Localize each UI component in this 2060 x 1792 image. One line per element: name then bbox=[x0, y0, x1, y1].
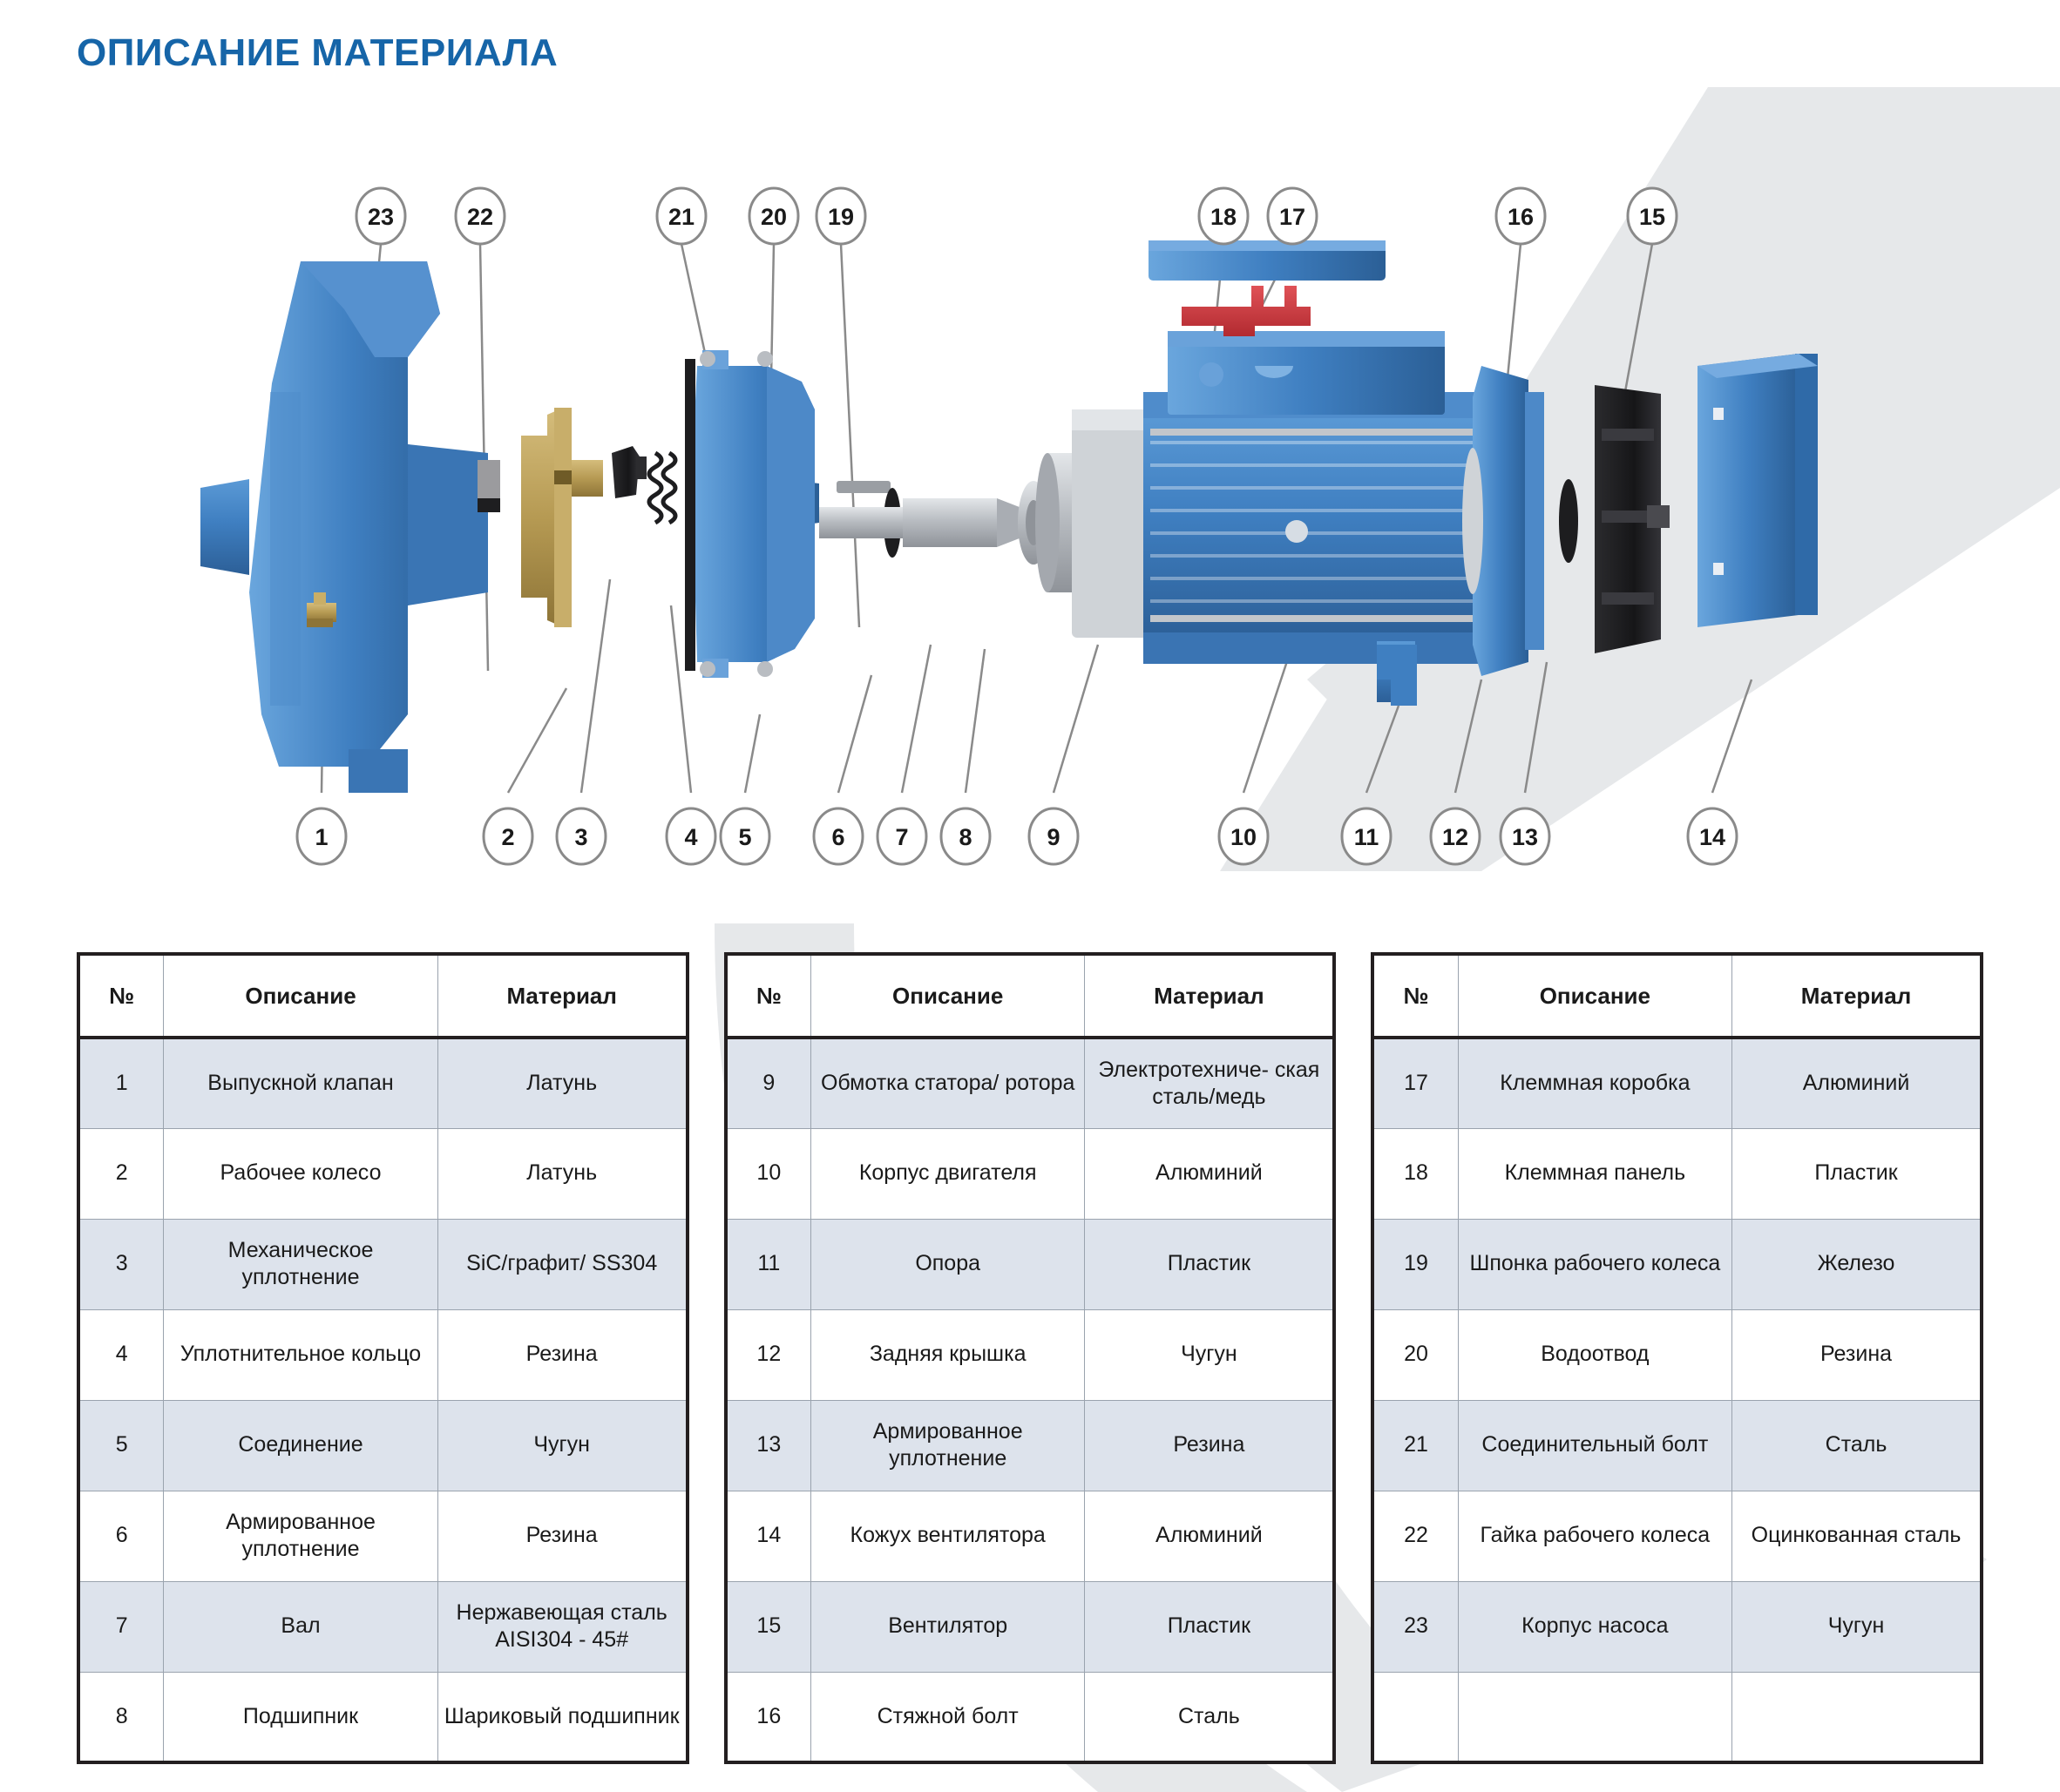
cell-description: Корпус насоса bbox=[1458, 1581, 1731, 1672]
part-terminal-box-lid bbox=[1149, 240, 1386, 281]
material-table-1: № Описание Материал 1Выпускной клапанЛат… bbox=[77, 952, 689, 1764]
callout-21: 21 bbox=[657, 188, 706, 244]
callout-23: 23 bbox=[356, 188, 405, 244]
cell-material: Чугун bbox=[1085, 1309, 1334, 1400]
table-row: 21Соединительный болтСталь bbox=[1372, 1400, 1982, 1491]
material-table-2: № Описание Материал 9Обмотка статора/ ро… bbox=[724, 952, 1337, 1764]
table-row: 23Корпус насосаЧугун bbox=[1372, 1581, 1982, 1672]
table-row: 3Механическое уплотнениеSiC/графит/ SS30… bbox=[78, 1219, 688, 1309]
cell-material: Электротехниче- ская сталь/медь bbox=[1085, 1038, 1334, 1128]
table-row: 9Обмотка статора/ ротораЭлектротехниче- … bbox=[726, 1038, 1335, 1128]
part-connection-bracket bbox=[685, 350, 819, 678]
cell-material: Резина bbox=[437, 1309, 687, 1400]
callout-20: 20 bbox=[749, 188, 798, 244]
table-header-row: № Описание Материал bbox=[78, 954, 688, 1038]
part-impeller bbox=[521, 408, 603, 627]
cell-number: 5 bbox=[78, 1400, 164, 1491]
table-row: 19Шпонка рабочего колесаЖелезо bbox=[1372, 1219, 1982, 1309]
cell-number: 16 bbox=[726, 1672, 811, 1762]
cell-description: Гайка рабочего колеса bbox=[1458, 1491, 1731, 1581]
callout-10: 10 bbox=[1219, 808, 1268, 864]
cell-description: Уплотнительное кольцо bbox=[164, 1309, 437, 1400]
svg-text:5: 5 bbox=[738, 824, 751, 850]
part-shaft bbox=[819, 498, 1028, 547]
svg-text:15: 15 bbox=[1639, 204, 1665, 230]
callout-11: 11 bbox=[1342, 808, 1391, 864]
cell-material: Нержавеющая сталь AISI304 - 45# bbox=[437, 1581, 687, 1672]
table-header-row: № Описание Материал bbox=[1372, 954, 1982, 1038]
svg-text:11: 11 bbox=[1354, 824, 1379, 850]
cell-number: 17 bbox=[1372, 1038, 1458, 1128]
callout-4: 4 bbox=[667, 808, 715, 864]
cell-material: Латунь bbox=[437, 1128, 687, 1219]
svg-text:19: 19 bbox=[828, 204, 854, 230]
column-header-material: Материал bbox=[437, 954, 687, 1038]
part-mechanical-seal bbox=[612, 446, 647, 498]
cell-description: Шпонка рабочего колеса bbox=[1458, 1219, 1731, 1309]
cell-number: 14 bbox=[726, 1491, 811, 1581]
cell-material: Алюминий bbox=[1732, 1038, 1982, 1128]
cell-description: Задняя крышка bbox=[810, 1309, 1084, 1400]
cell-material: Алюминий bbox=[1085, 1128, 1334, 1219]
material-table-3-wrap: № Описание Материал 17Клеммная коробкаАл… bbox=[1371, 952, 1983, 1764]
cell-material: Железо bbox=[1732, 1219, 1982, 1309]
callout-6: 6 bbox=[814, 808, 863, 864]
table-row: 13Армированное уплотнениеРезина bbox=[726, 1400, 1335, 1491]
table-row: 7ВалНержавеющая сталь AISI304 - 45# bbox=[78, 1581, 688, 1672]
svg-text:16: 16 bbox=[1508, 204, 1534, 230]
table-row: 5СоединениеЧугун bbox=[78, 1400, 688, 1491]
column-header-number: № bbox=[726, 954, 811, 1038]
cell-description: Соединение bbox=[164, 1400, 437, 1491]
cell-description: Вентилятор bbox=[810, 1581, 1084, 1672]
cell-material: Пластик bbox=[1085, 1219, 1334, 1309]
part-impeller-nut bbox=[478, 460, 500, 512]
table-row: 20ВодоотводРезина bbox=[1372, 1309, 1982, 1400]
part-terminal-panel bbox=[1182, 286, 1311, 336]
callout-7: 7 bbox=[878, 808, 926, 864]
cell-number: 3 bbox=[78, 1219, 164, 1309]
column-header-material: Материал bbox=[1085, 954, 1334, 1038]
callout-14: 14 bbox=[1688, 808, 1737, 864]
cell-description: Рабочее колесо bbox=[164, 1128, 437, 1219]
svg-text:1: 1 bbox=[315, 824, 328, 850]
callout-13: 13 bbox=[1501, 808, 1549, 864]
cell-material: Шариковый подшипник bbox=[437, 1672, 687, 1762]
svg-text:12: 12 bbox=[1442, 824, 1468, 850]
cell-number: 12 bbox=[726, 1309, 811, 1400]
cell-description: Армированное уплотнение bbox=[810, 1400, 1084, 1491]
svg-text:21: 21 bbox=[668, 204, 695, 230]
table-row: 4Уплотнительное кольцоРезина bbox=[78, 1309, 688, 1400]
cell-description: Клеммная коробка bbox=[1458, 1038, 1731, 1128]
callout-16: 16 bbox=[1496, 188, 1545, 244]
table-row: 18Клеммная панельПластик bbox=[1372, 1128, 1982, 1219]
cell-description: Кожух вентилятора bbox=[810, 1491, 1084, 1581]
material-table-2-wrap: № Описание Материал 9Обмотка статора/ ро… bbox=[724, 952, 1337, 1764]
column-header-description: Описание bbox=[810, 954, 1084, 1038]
table-row: 11ОпораПластик bbox=[726, 1219, 1335, 1309]
cell-description: Обмотка статора/ ротора bbox=[810, 1038, 1084, 1128]
cell-description: Механическое уплотнение bbox=[164, 1219, 437, 1309]
callout-12: 12 bbox=[1431, 808, 1480, 864]
page-title: ОПИСАНИЕ МАТЕРИАЛА bbox=[77, 31, 558, 75]
material-table-1-wrap: № Описание Материал 1Выпускной клапанЛат… bbox=[77, 952, 689, 1764]
cell-description: Вал bbox=[164, 1581, 437, 1672]
cell-number: 1 bbox=[78, 1038, 164, 1128]
table-row: 16Стяжной болтСталь bbox=[726, 1672, 1335, 1762]
cell-material: Чугун bbox=[437, 1400, 687, 1491]
table-header-row: № Описание Материал bbox=[726, 954, 1335, 1038]
part-stator-rotor-winding bbox=[1035, 409, 1150, 638]
cell-number: 6 bbox=[78, 1491, 164, 1581]
part-motor-housing bbox=[1143, 331, 1509, 702]
callout-19: 19 bbox=[817, 188, 865, 244]
table-row: 15ВентиляторПластик bbox=[726, 1581, 1335, 1672]
cell-number: 20 bbox=[1372, 1309, 1458, 1400]
cell-material: Резина bbox=[1732, 1309, 1982, 1400]
cell-material: Чугун bbox=[1732, 1581, 1982, 1672]
cell-number: 9 bbox=[726, 1038, 811, 1128]
material-tables-row: № Описание Материал 1Выпускной клапанЛат… bbox=[0, 952, 2060, 1764]
cell-material: Резина bbox=[1085, 1400, 1334, 1491]
part-fan-cover bbox=[1697, 354, 1818, 627]
svg-text:10: 10 bbox=[1230, 824, 1257, 850]
cell-material: Пластик bbox=[1732, 1128, 1982, 1219]
table-row: 10Корпус двигателяАлюминий bbox=[726, 1128, 1335, 1219]
cell-description: Соединительный болт bbox=[1458, 1400, 1731, 1491]
material-table-3: № Описание Материал 17Клеммная коробкаАл… bbox=[1371, 952, 1983, 1764]
callout-17: 17 bbox=[1268, 188, 1317, 244]
cell-description: Стяжной болт bbox=[810, 1672, 1084, 1762]
table-row: 8ПодшипникШариковый подшипник bbox=[78, 1672, 688, 1762]
cell-material: Пластик bbox=[1085, 1581, 1334, 1672]
part-rear-cover bbox=[1462, 366, 1544, 676]
cell-material: Латунь bbox=[437, 1038, 687, 1128]
svg-text:4: 4 bbox=[684, 824, 697, 850]
svg-text:18: 18 bbox=[1210, 204, 1237, 230]
svg-text:14: 14 bbox=[1699, 824, 1725, 850]
column-header-number: № bbox=[1372, 954, 1458, 1038]
svg-text:9: 9 bbox=[1047, 824, 1060, 850]
svg-text:13: 13 bbox=[1512, 824, 1538, 850]
callout-2: 2 bbox=[484, 808, 532, 864]
exploded-pump-diagram: 23 22 21 20 19 18 17 16 15 1 2 3 4 5 6 7… bbox=[0, 105, 2060, 932]
cell-description: Подшипник bbox=[164, 1672, 437, 1762]
part-sealing-ring bbox=[649, 453, 675, 523]
svg-text:6: 6 bbox=[831, 824, 844, 850]
callout-15: 15 bbox=[1628, 188, 1677, 244]
table-row-empty bbox=[1372, 1672, 1982, 1762]
cell-number: 15 bbox=[726, 1581, 811, 1672]
cell-material: SiC/графит/ SS304 bbox=[437, 1219, 687, 1309]
cell-number: 8 bbox=[78, 1672, 164, 1762]
callout-3: 3 bbox=[557, 808, 606, 864]
cell-number: 4 bbox=[78, 1309, 164, 1400]
svg-text:2: 2 bbox=[501, 824, 514, 850]
cell-number: 11 bbox=[726, 1219, 811, 1309]
cell-number: 19 bbox=[1372, 1219, 1458, 1309]
table-row: 1Выпускной клапанЛатунь bbox=[78, 1038, 688, 1128]
callout-5: 5 bbox=[721, 808, 769, 864]
cell-material: Оцинкованная сталь bbox=[1732, 1491, 1982, 1581]
svg-text:23: 23 bbox=[368, 204, 394, 230]
cell-material bbox=[1732, 1672, 1982, 1762]
part-reinforced-seal bbox=[1559, 479, 1578, 563]
cell-description bbox=[1458, 1672, 1731, 1762]
cell-number: 2 bbox=[78, 1128, 164, 1219]
svg-text:7: 7 bbox=[895, 824, 908, 850]
cell-number: 7 bbox=[78, 1581, 164, 1672]
cell-description: Водоотвод bbox=[1458, 1309, 1731, 1400]
cell-number: 10 bbox=[726, 1128, 811, 1219]
callout-22: 22 bbox=[456, 188, 505, 244]
svg-text:3: 3 bbox=[574, 824, 587, 850]
svg-text:20: 20 bbox=[761, 204, 787, 230]
callout-9: 9 bbox=[1029, 808, 1078, 864]
table-row: 17Клеммная коробкаАлюминий bbox=[1372, 1038, 1982, 1128]
cell-number: 23 bbox=[1372, 1581, 1458, 1672]
cell-description: Клеммная панель bbox=[1458, 1128, 1731, 1219]
column-header-number: № bbox=[78, 954, 164, 1038]
cell-description: Армированное уплотнение bbox=[164, 1491, 437, 1581]
callout-1: 1 bbox=[297, 808, 346, 864]
table-row: 22Гайка рабочего колесаОцинкованная стал… bbox=[1372, 1491, 1982, 1581]
table-row: 14Кожух вентилятораАлюминий bbox=[726, 1491, 1335, 1581]
svg-text:22: 22 bbox=[467, 204, 493, 230]
table-row: 2Рабочее колесоЛатунь bbox=[78, 1128, 688, 1219]
cell-number: 18 bbox=[1372, 1128, 1458, 1219]
column-header-material: Материал bbox=[1732, 954, 1982, 1038]
cell-description: Опора bbox=[810, 1219, 1084, 1309]
cell-number bbox=[1372, 1672, 1458, 1762]
cell-number: 22 bbox=[1372, 1491, 1458, 1581]
svg-text:8: 8 bbox=[959, 824, 972, 850]
cell-description: Выпускной клапан bbox=[164, 1038, 437, 1128]
cell-number: 13 bbox=[726, 1400, 811, 1491]
column-header-description: Описание bbox=[1458, 954, 1731, 1038]
cell-material: Сталь bbox=[1085, 1672, 1334, 1762]
callout-8: 8 bbox=[941, 808, 990, 864]
cell-material: Сталь bbox=[1732, 1400, 1982, 1491]
table-row: 6Армированное уплотнениеРезина bbox=[78, 1491, 688, 1581]
part-pump-casing bbox=[200, 261, 488, 793]
cell-description: Корпус двигателя bbox=[810, 1128, 1084, 1219]
svg-text:17: 17 bbox=[1279, 204, 1305, 230]
callout-18: 18 bbox=[1199, 188, 1248, 244]
cell-material: Алюминий bbox=[1085, 1491, 1334, 1581]
part-impeller-key bbox=[837, 481, 891, 493]
part-fan bbox=[1595, 385, 1670, 653]
table-row: 12Задняя крышкаЧугун bbox=[726, 1309, 1335, 1400]
cell-number: 21 bbox=[1372, 1400, 1458, 1491]
cell-material: Резина bbox=[437, 1491, 687, 1581]
column-header-description: Описание bbox=[164, 954, 437, 1038]
